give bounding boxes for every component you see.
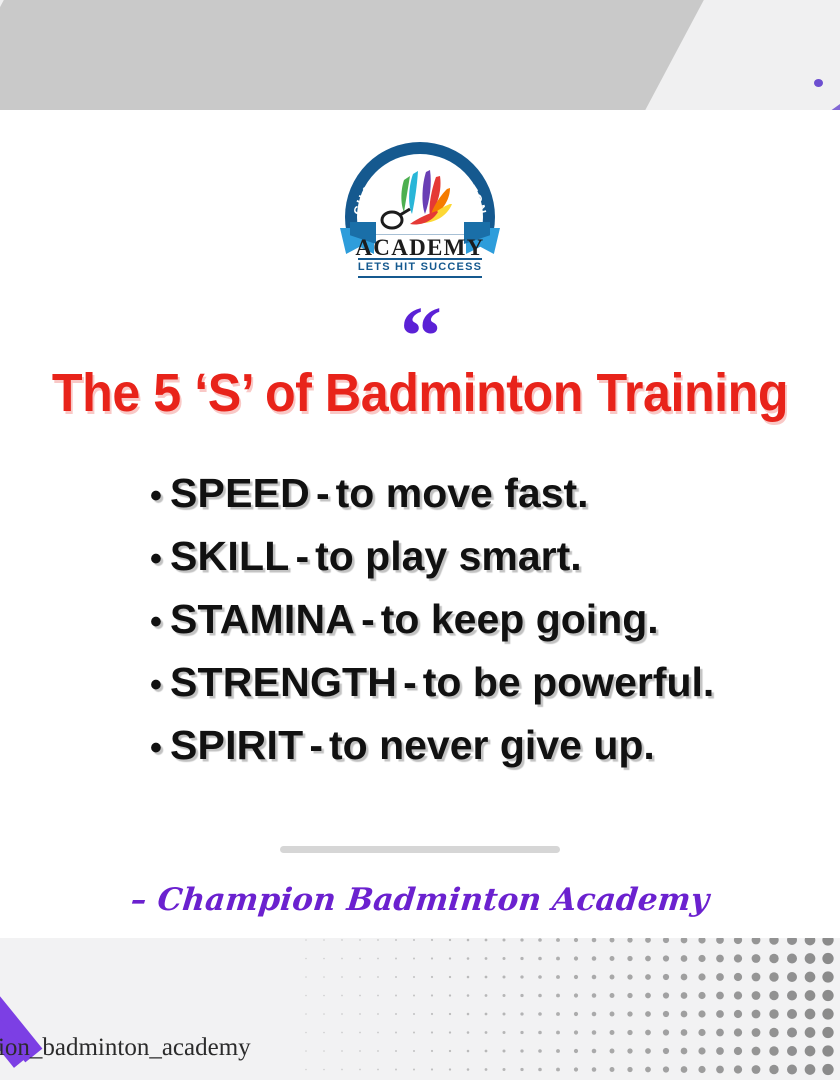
bullet-icon: •	[150, 731, 170, 765]
logo-academy-label: ACADEMY	[342, 236, 498, 259]
list-item-dash: -	[289, 533, 315, 580]
quote-mark-icon: “	[0, 295, 840, 355]
bullet-icon: •	[150, 542, 170, 576]
logo-container: CHAMPION BADMINTON	[0, 142, 840, 282]
list-item-term: SKILL	[170, 533, 289, 580]
purple-dot-icon	[814, 79, 823, 87]
list-item-dash: -	[355, 596, 381, 643]
list-item-term: SPIRIT	[170, 722, 303, 769]
points-list: • SPEED - to move fast. • SKILL - to pla…	[150, 470, 810, 785]
list-item: • SPEED - to move fast.	[150, 470, 810, 533]
list-item-dash: -	[310, 470, 336, 517]
bullet-icon: •	[150, 479, 170, 513]
attribution-signature: – Champion Badminton Academy	[0, 882, 840, 918]
list-item-term: STRENGTH	[170, 659, 397, 706]
academy-logo: CHAMPION BADMINTON	[342, 142, 498, 282]
list-item: • STRENGTH - to be powerful.	[150, 659, 810, 722]
content-card: CHAMPION BADMINTON	[0, 110, 840, 938]
list-item: • STAMINA - to keep going.	[150, 596, 810, 659]
list-item: • SKILL - to play smart.	[150, 533, 810, 596]
page-title: The 5 ‘S’ of Badminton Training	[29, 362, 810, 424]
list-item-description: to be powerful.	[423, 659, 715, 706]
list-item-description: to move fast.	[336, 470, 589, 517]
list-item-dash: -	[397, 659, 423, 706]
list-item-term: STAMINA	[170, 596, 355, 643]
halftone-dot-pattern	[300, 938, 840, 1080]
section-divider	[280, 846, 560, 853]
list-item-term: SPEED	[170, 470, 310, 517]
bottom-decorative-band: mpion_badminton_academy	[0, 938, 840, 1080]
top-decorative-band	[0, 0, 840, 110]
logo-rule-bottom	[358, 276, 482, 278]
bullet-icon: •	[150, 668, 170, 702]
list-item-description: to play smart.	[315, 533, 582, 580]
top-gray-shape	[0, 0, 709, 110]
list-item: • SPIRIT - to never give up.	[150, 722, 810, 785]
list-item-description: to keep going.	[381, 596, 659, 643]
list-item-dash: -	[303, 722, 329, 769]
logo-tagline: LETS HIT SUCCESS	[342, 260, 498, 275]
account-handle: mpion_badminton_academy	[0, 1034, 251, 1062]
list-item-description: to never give up.	[329, 722, 655, 769]
poster-canvas: CHAMPION BADMINTON	[0, 0, 840, 1080]
bullet-icon: •	[150, 605, 170, 639]
shuttlecock-feathers-icon	[380, 168, 462, 230]
